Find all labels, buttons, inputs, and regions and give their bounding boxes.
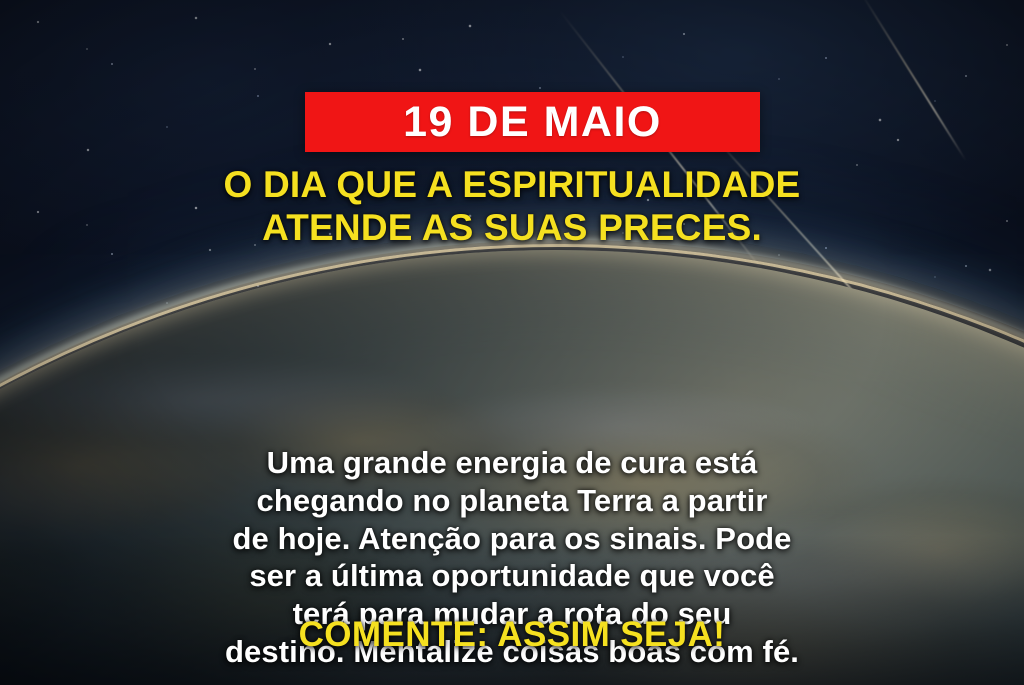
headline-line-1: O DIA QUE A ESPIRITUALIDADE [0, 164, 1024, 207]
body-line-2: chegando no planeta Terra a partir [0, 482, 1024, 520]
body-line-3: de hoje. Atenção para os sinais. Pode [0, 520, 1024, 558]
poster-canvas: 19 DE MAIO O DIA QUE A ESPIRITUALIDADE A… [0, 0, 1024, 685]
body-line-4: ser a última oportunidade que você [0, 557, 1024, 595]
cta-text: COMENTE: ASSIM SEJA! [0, 616, 1024, 655]
body-line-1: Uma grande energia de cura está [0, 444, 1024, 482]
headline: O DIA QUE A ESPIRITUALIDADE ATENDE AS SU… [0, 164, 1024, 250]
headline-line-2: ATENDE AS SUAS PRECES. [0, 207, 1024, 250]
date-badge-label: 19 DE MAIO [403, 101, 662, 144]
date-badge: 19 DE MAIO [305, 92, 760, 152]
poster-content: 19 DE MAIO O DIA QUE A ESPIRITUALIDADE A… [0, 0, 1024, 685]
